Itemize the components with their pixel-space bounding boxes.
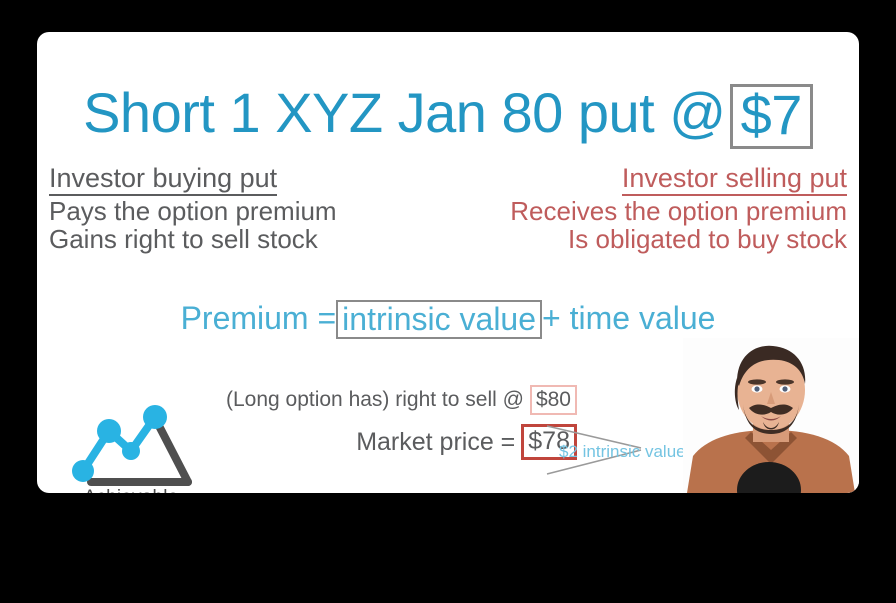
example-row-right-to-sell: (Long option has) right to sell @ $80 — [157, 384, 577, 416]
slide-canvas: Short 1 XYZ Jan 80 put @$7 Investor buyi… — [37, 32, 859, 493]
player-controls — [0, 493, 896, 603]
premium-equation-boxed-term: intrinsic value — [336, 300, 542, 339]
presenter-video-overlay — [683, 338, 859, 493]
slide-title-text: Short 1 XYZ Jan 80 put @ — [83, 81, 726, 144]
achievable-logo-icon — [61, 387, 201, 493]
example-row-2-label: Market price = — [356, 428, 515, 457]
intrinsic-value-callout: $2 intrinsic value — [559, 442, 686, 462]
example-row-1-label: (Long option has) right to sell @ — [226, 388, 524, 412]
example-row-1-value: $80 — [530, 385, 577, 415]
investor-buying-line-2: Gains right to sell stock — [49, 226, 429, 254]
investor-buying-heading: Investor buying put — [49, 164, 277, 196]
investor-buying-column: Investor buying put Pays the option prem… — [49, 164, 429, 254]
premium-equation-tail: + time value — [542, 300, 715, 336]
video-player: Short 1 XYZ Jan 80 put @$7 Investor buyi… — [0, 0, 896, 603]
slide-title-boxed-price: $7 — [730, 84, 813, 149]
intrinsic-value-example: (Long option has) right to sell @ $80 Ma… — [157, 384, 577, 458]
premium-equation: Premium =intrinsic value+ time value — [37, 300, 859, 339]
premium-equation-lead: Premium = — [181, 300, 337, 336]
investor-selling-line-1: Receives the option premium — [427, 198, 847, 226]
investor-selling-line-2: Is obligated to buy stock — [427, 226, 847, 254]
presenter-webcam-icon — [683, 338, 859, 493]
example-row-market-price: Market price = $78 — [157, 426, 577, 458]
investor-selling-heading: Investor selling put — [622, 164, 847, 196]
slide-title: Short 1 XYZ Jan 80 put @$7 — [37, 80, 859, 149]
investor-selling-column: Investor selling put Receives the option… — [427, 164, 847, 254]
investor-buying-line-1: Pays the option premium — [49, 198, 429, 226]
